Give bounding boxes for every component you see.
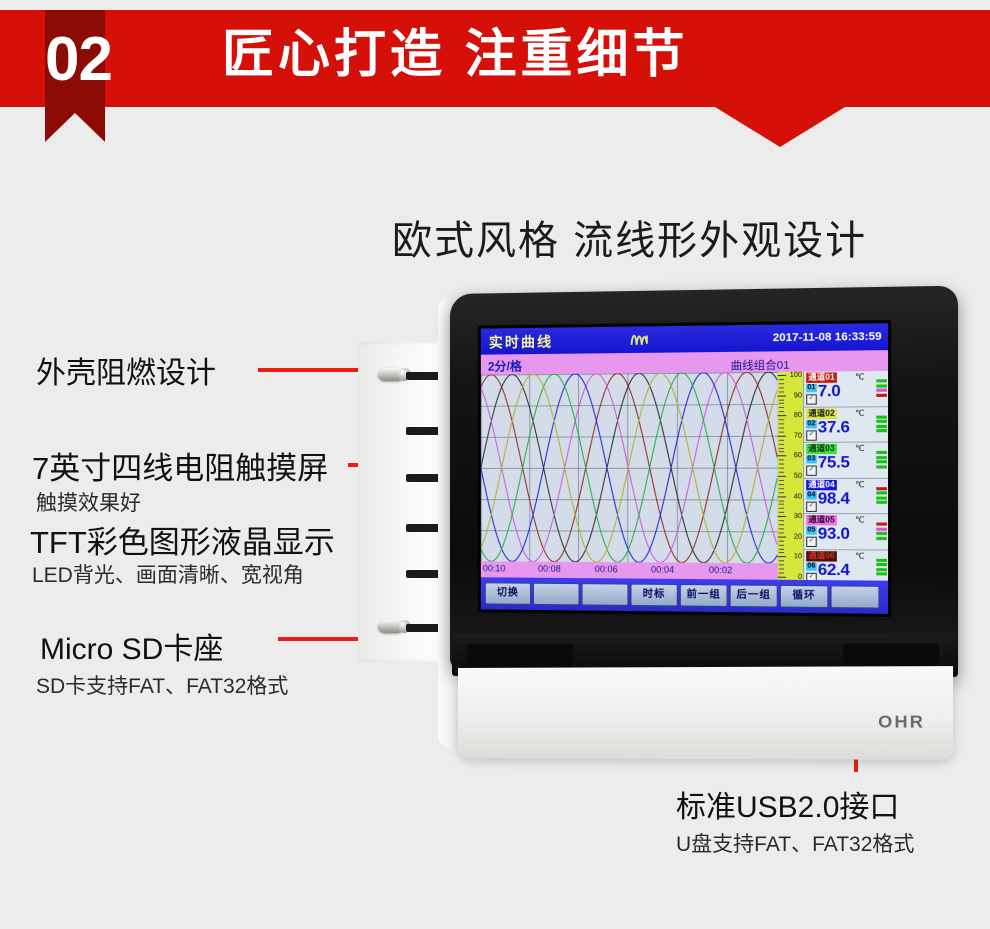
channel-checkbox[interactable]: ✓ [806, 466, 817, 476]
ruler-major-tick [778, 415, 786, 416]
channel-tag: 通道03 [806, 444, 837, 454]
ruler-minor-tick [779, 419, 784, 420]
ruler-minor-tick [779, 544, 784, 545]
ruler-tick-label: 100 [790, 372, 802, 379]
callout-usb-sub: U盘支持FAT、FAT32格式 [676, 828, 914, 858]
ruler-minor-tick [779, 423, 784, 424]
ruler-minor-tick [779, 492, 784, 493]
status-bar-segment [876, 487, 887, 490]
channel-value: 7.0 [818, 383, 841, 402]
channel-tag: 通道02 [806, 408, 837, 419]
micro-sd-slot[interactable] [466, 642, 574, 668]
channel-index: 02 [806, 420, 816, 428]
channel-checkbox[interactable]: ✓ [806, 394, 817, 404]
channel-unit: ℃ [855, 444, 865, 453]
ruler-minor-tick [779, 403, 784, 404]
ruler-major-tick [778, 536, 786, 537]
ruler-minor-tick [779, 427, 784, 428]
channel-status-bars [876, 559, 887, 578]
ruler-minor-tick [779, 452, 784, 453]
channel-status-bars [876, 451, 887, 470]
ruler-minor-tick [779, 508, 784, 509]
callout-tft-sub: LED背光、画面清晰、宽视角 [32, 559, 304, 589]
channel-readout-panel[interactable]: 通道01℃01✓7.0通道02℃02✓37.6通道03℃03✓75.5通道04℃… [803, 371, 888, 581]
ruler-tick-label: 20 [794, 533, 802, 540]
ruler-minor-tick [779, 411, 784, 412]
status-bar-segment [876, 451, 887, 454]
lcd-datetime: 2017-11-08 16:33:59 [773, 330, 882, 344]
channel-row[interactable]: 通道03℃03✓75.5 [804, 443, 888, 479]
ruler-major-tick [778, 496, 786, 497]
callout-sdcard-sub: SD卡支持FAT、FAT32格式 [36, 670, 288, 700]
callout-touchscreen-sub: 触摸效果好 [36, 487, 141, 517]
ruler-minor-tick [779, 480, 784, 481]
ruler-major-tick [778, 375, 786, 376]
ruler-minor-tick [779, 460, 784, 461]
ruler-major-tick [778, 435, 786, 436]
channel-unit: ℃ [855, 480, 865, 489]
ruler-minor-tick [779, 399, 784, 400]
channel-unit: ℃ [855, 516, 865, 525]
device-front-bezel: 实时曲线 2017-11-08 16:33:59 2分/格 曲线组合01 [450, 286, 958, 678]
status-bar-segment [876, 465, 887, 468]
softkey-button-5[interactable]: 前一组 [680, 584, 728, 607]
trend-curve [481, 372, 777, 563]
ruler-major-tick [778, 395, 786, 396]
page-headline: 欧式风格 流线形外观设计 [392, 208, 867, 266]
device-recorder: 实时曲线 2017-11-08 16:33:59 2分/格 曲线组合01 [340, 282, 952, 762]
status-bar-segment [876, 393, 887, 396]
lcd-screen[interactable]: 实时曲线 2017-11-08 16:33:59 2分/格 曲线组合01 [481, 323, 888, 614]
time-scale-label: 2分/格 [488, 357, 522, 374]
channel-row[interactable]: 通道04℃04✓98.4 [804, 479, 888, 515]
status-bar-segment [876, 563, 887, 566]
channel-row[interactable]: 通道05℃05✓93.0 [804, 514, 888, 550]
callout-usb-title: 标准USB2.0接口 [676, 782, 899, 826]
channel-index: 06 [806, 562, 816, 570]
trend-curves [481, 372, 778, 563]
ruler-minor-tick [779, 431, 784, 432]
callout-sdcard-title: Micro SD卡座 [40, 624, 223, 668]
ruler-tick-label: 70 [794, 432, 802, 439]
channel-index: 01 [806, 384, 816, 392]
ruler-tick-label: 80 [794, 412, 802, 419]
channel-unit: ℃ [855, 372, 865, 381]
status-bar-segment [876, 568, 887, 571]
status-bar-segment [876, 384, 887, 387]
banner-notch [715, 107, 845, 147]
value-ruler: 1009080706050403020100 [778, 372, 803, 580]
softkey-button-8[interactable] [831, 585, 880, 608]
ruler-minor-tick [779, 383, 784, 384]
channel-tag: 通道04 [806, 480, 837, 490]
softkey-button-1[interactable]: 切换 [485, 582, 531, 605]
channel-unit: ℃ [855, 551, 865, 560]
ruler-minor-tick [779, 573, 784, 574]
brand-logo: OHR [878, 712, 925, 733]
ruler-minor-tick [779, 504, 784, 505]
channel-status-bars [876, 487, 887, 506]
status-bar-segment [876, 415, 887, 418]
channel-value: 37.6 [818, 418, 850, 437]
status-bar-segment [876, 420, 887, 423]
status-bar-segment [876, 523, 887, 526]
wave-logo-icon [630, 330, 651, 351]
callout-case-title: 外壳阻燃设计 [36, 348, 216, 392]
channel-tag: 通道05 [806, 515, 837, 525]
ruler-minor-tick [779, 540, 784, 541]
channel-index: 04 [806, 491, 816, 499]
channel-index: 03 [806, 455, 816, 463]
ruler-minor-tick [779, 488, 784, 489]
ruler-minor-tick [779, 520, 784, 521]
time-axis-label: 00:08 [538, 564, 561, 574]
ruler-tick-label: 30 [794, 513, 802, 520]
ruler-minor-tick [779, 391, 784, 392]
ruler-major-tick [778, 577, 786, 578]
ruler-minor-tick [779, 468, 784, 469]
status-bar-segment [876, 573, 887, 576]
channel-checkbox[interactable]: ✓ [806, 537, 817, 547]
time-axis-label: 00:10 [483, 563, 506, 573]
channel-row[interactable]: 通道02℃02✓37.6 [804, 407, 888, 443]
ruler-minor-tick [779, 561, 784, 562]
ruler-tick-label: 60 [794, 453, 802, 460]
status-bar-segment [876, 496, 887, 499]
trend-curve [481, 372, 777, 563]
time-axis-label: 00:04 [651, 564, 674, 574]
lcd-screen-title: 实时曲线 [489, 332, 553, 353]
status-bar-segment [876, 456, 887, 459]
trend-plot-area[interactable] [481, 372, 778, 563]
status-bar-segment [876, 389, 887, 392]
ruler-minor-tick [779, 464, 784, 465]
screen-inner-frame: 实时曲线 2017-11-08 16:33:59 2分/格 曲线组合01 [478, 320, 891, 617]
ruler-minor-tick [779, 524, 784, 525]
ruler-minor-tick [779, 532, 784, 533]
trend-curve [481, 372, 777, 563]
ruler-minor-tick [779, 528, 784, 529]
status-bar-segment [876, 501, 887, 504]
ruler-tick-label: 40 [794, 493, 802, 500]
channel-unit: ℃ [855, 408, 865, 417]
ruler-minor-tick [779, 552, 784, 553]
softkey-button-3[interactable] [582, 583, 629, 606]
ruler-minor-tick [779, 500, 784, 501]
banner-title: 匠心打造 注重细节 [222, 19, 688, 91]
status-bar-segment [876, 429, 887, 432]
channel-tag: 通道06 [806, 551, 837, 562]
ruler-minor-tick [779, 484, 784, 485]
time-axis-label: 00:02 [709, 565, 732, 575]
ruler-minor-tick [779, 387, 784, 388]
ruler-minor-tick [779, 565, 784, 566]
ruler-tick-label: 10 [794, 553, 802, 560]
channel-value: 98.4 [818, 490, 850, 509]
callout-tft-title: TFT彩色图形液晶显示 [30, 517, 335, 562]
ruler-major-tick [778, 516, 786, 517]
ruler-tick-label: 90 [794, 392, 802, 399]
ruler-minor-tick [779, 448, 784, 449]
status-bar-segment [876, 528, 887, 531]
ruler-major-tick [778, 556, 786, 557]
curve-group-label: 曲线组合01 [731, 356, 790, 373]
softkey-button-6[interactable]: 后一组 [730, 584, 778, 607]
softkey-button-7[interactable]: 循环 [780, 585, 829, 608]
ruler-minor-tick [779, 444, 784, 445]
softkey-button-2[interactable] [533, 583, 580, 606]
status-bar-segment [876, 532, 887, 535]
trend-curve [481, 372, 777, 563]
softkey-button-4[interactable]: 时标 [630, 584, 677, 607]
channel-tag: 通道01 [806, 372, 837, 383]
trend-curve [481, 372, 777, 563]
status-bar-segment [876, 379, 887, 382]
ruler-minor-tick [779, 440, 784, 441]
ruler-minor-tick [779, 407, 784, 408]
callout-touchscreen-title: 7英寸四线电阻触摸屏 [32, 443, 328, 488]
status-bar-segment [876, 537, 887, 540]
ruler-major-tick [778, 476, 786, 477]
device-lower-body: OHR [458, 666, 953, 760]
trend-curve [481, 372, 777, 563]
ruler-minor-tick [779, 512, 784, 513]
channel-value: 62.4 [818, 561, 850, 580]
time-axis-label: 00:06 [595, 564, 618, 574]
channel-status-bars [876, 379, 887, 398]
banner-number: 02 [45, 22, 105, 98]
channel-index: 05 [806, 527, 816, 535]
channel-status-bars [876, 523, 887, 542]
ruler-tick-label: 50 [794, 473, 802, 480]
ruler-minor-tick [779, 379, 784, 380]
channel-value: 75.5 [818, 454, 850, 473]
usb-port-slot[interactable] [842, 641, 940, 668]
status-bar-segment [876, 424, 887, 427]
status-bar-segment [876, 492, 887, 495]
ruler-major-tick [778, 456, 786, 457]
status-bar-segment [876, 559, 887, 562]
ruler-minor-tick [779, 472, 784, 473]
channel-row[interactable]: 通道01℃01✓7.0 [804, 371, 888, 407]
ruler-minor-tick [779, 569, 784, 570]
channel-value: 93.0 [818, 526, 850, 545]
channel-checkbox[interactable]: ✓ [806, 501, 817, 511]
ruler-minor-tick [779, 548, 784, 549]
softkey-bar[interactable]: 切换时标前一组后一组循环 [481, 577, 888, 614]
channel-status-bars [876, 415, 887, 434]
channel-checkbox[interactable]: ✓ [806, 430, 817, 440]
status-bar-segment [876, 460, 887, 463]
